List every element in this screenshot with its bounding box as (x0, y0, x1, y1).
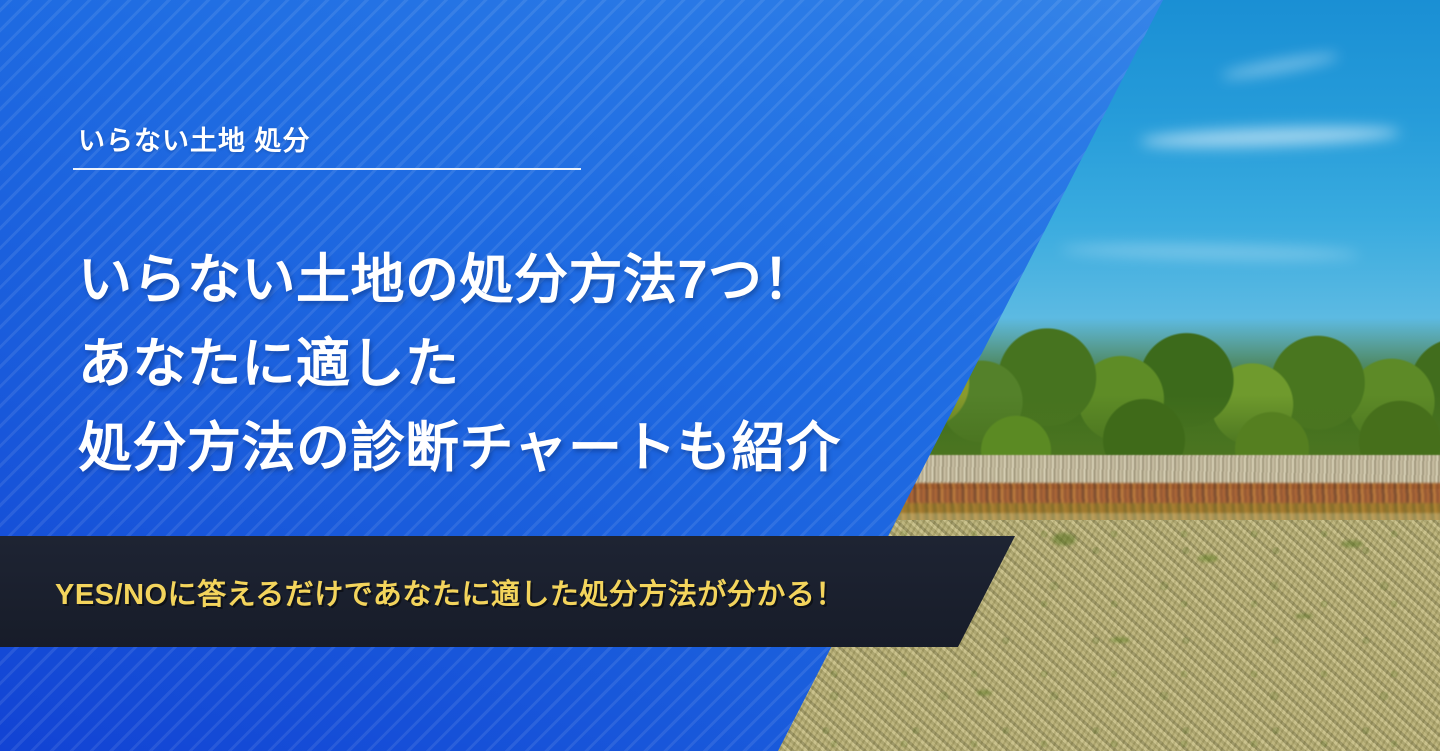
subtitle-banner-text: YES/NOに答えるだけであなたに適した処分方法が分かる！ (55, 571, 845, 613)
page-title: いらない土地の処分方法7つ！ あなたに適した 処分方法の診断チャートも紹介 (78, 238, 948, 490)
cloud-wisp-icon (1140, 123, 1400, 150)
eyebrow-divider (73, 168, 581, 170)
cloud-wisp-icon (1060, 242, 1360, 261)
subtitle-banner: YES/NOに答えるだけであなたに適した処分方法が分かる！ (0, 536, 1015, 647)
page-title-line-3: 処分方法の診断チャートも紹介 (78, 406, 948, 490)
page-title-line-2: あなたに適した (78, 322, 948, 406)
page-title-line-1: いらない土地の処分方法7つ！ (78, 238, 948, 322)
cloud-wisp-icon (1220, 50, 1340, 83)
eyebrow-label: いらない土地 処分 (78, 119, 311, 158)
hero-banner-image: いらない土地 処分 いらない土地の処分方法7つ！ あなたに適した 処分方法の診断… (0, 0, 1440, 751)
